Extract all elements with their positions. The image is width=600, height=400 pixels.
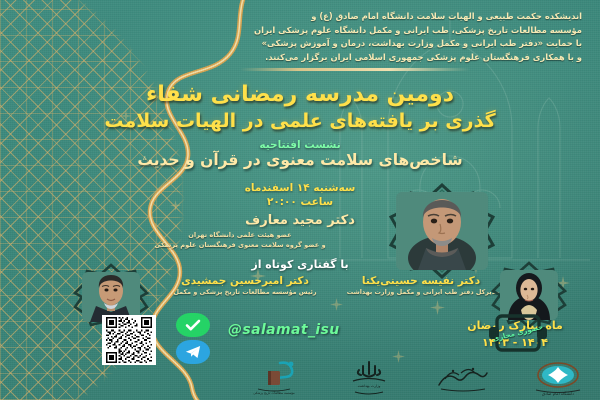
organizer-line-3: با حمایت «دفتر طب ایرانی و مکمل وزارت به… (162, 37, 582, 51)
logo-strip: دانشگاه امام صادق وزارت بهداشت (236, 358, 596, 398)
sparkle-icon (330, 298, 343, 311)
qr-code[interactable] (102, 315, 156, 365)
organizers-block: اندیشکده حکمت طبیعی و الهیات سلامت دانشگ… (162, 10, 582, 64)
main-speaker-affiliation-line2: و عضو گروه سلامت معنوی فرهنگستان علوم پز… (110, 241, 370, 251)
svg-text:وزارت بهداشت: وزارت بهداشت (357, 384, 380, 388)
medical-history-institute-logo: مؤسسه مطالعات تاریخ پزشکی (242, 359, 306, 397)
main-speaker-affiliation: عضو هیئت علمی دانشگاه تهران و عضو گروه س… (110, 231, 370, 251)
short-talk-speaker-1-name: دکتر نفیسه حسینی‌یکتا (326, 275, 516, 287)
imam-sadiq-university-logo: دانشگاه امام صادق (526, 359, 590, 397)
short-talk-speaker-2-name: دکتر امیرحسین جمشیدی (150, 275, 340, 287)
short-talk-speaker-2-affiliation: رئیس مؤسسه مطالعات تاریخ پزشکی و مکمل (140, 288, 350, 297)
whatsapp-icon[interactable] (176, 313, 210, 337)
sparkle-icon (430, 300, 445, 315)
telegram-icon[interactable] (176, 340, 210, 364)
svg-text:مؤسسه مطالعات تاریخ پزشکی: مؤسسه مطالعات تاریخ پزشکی (253, 391, 295, 395)
calligraphy-seal-logo (431, 359, 495, 397)
session-label: نشست افتتاحیه (0, 139, 600, 151)
ministry-of-health-logo: وزارت بهداشت (337, 359, 401, 397)
poster-title-line1: دومین مدرسه رمضانی شفاء (0, 82, 600, 107)
organizer-line-4: و با همکاری فرهنگستان علوم پزشکی جمهوری … (162, 51, 582, 65)
attendance-mode-badge: حضوری مجازی (487, 310, 549, 356)
event-date: سه‌شنبه ۱۴ اسفندماه (0, 182, 600, 194)
mode-line-1: حضوری (516, 323, 544, 338)
organizer-line-1: اندیشکده حکمت طبیعی و الهیات سلامت دانشگ… (162, 10, 582, 24)
organizer-line-2: مؤسسه مطالعات تاریخ پزشکی، طب ایرانی و م… (162, 24, 582, 38)
divider-rule (240, 68, 470, 71)
session-title: شاخص‌های سلامت معنوی در قرآن و حدیث (0, 151, 600, 169)
mode-line-2: مجازی (492, 330, 516, 344)
social-handle[interactable]: @salamat_isu (228, 322, 340, 338)
main-speaker-name: دکتر مجید معارف (0, 213, 600, 228)
poster-title-line2: گذری بر یافته‌های علمی در الهیات سلامت (0, 110, 600, 132)
svg-text:دانشگاه امام صادق: دانشگاه امام صادق (542, 391, 574, 396)
main-speaker-affiliation-line1: عضو هیئت علمی دانشگاه تهران (110, 231, 370, 241)
event-poster: اندیشکده حکمت طبیعی و الهیات سلامت دانشگ… (0, 0, 600, 400)
event-time: ساعت ۲۰:۰۰ (0, 196, 600, 208)
